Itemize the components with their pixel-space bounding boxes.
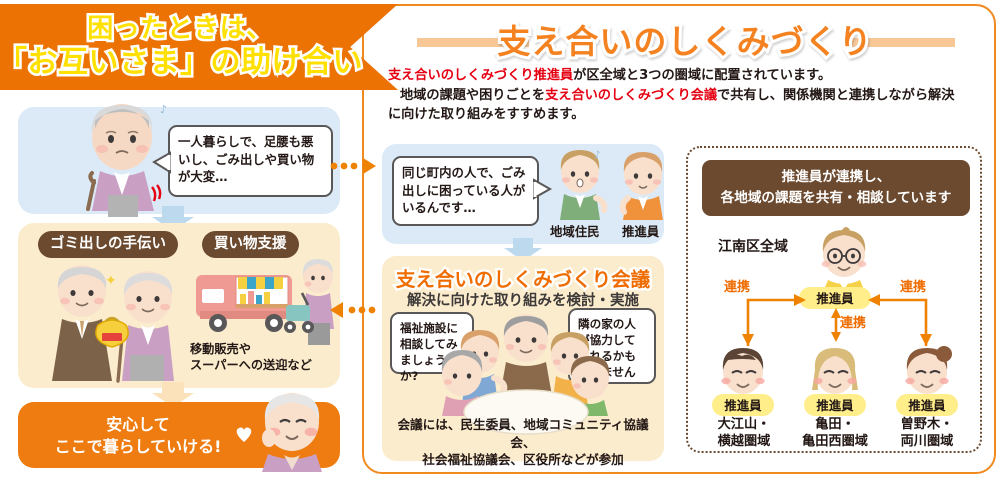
network-banner-text: 推進員が連携し、 各地域の課題を共有・相談しています [721,167,952,209]
page-title: 支え合いのしくみづくり [497,15,872,63]
svg-text:♪: ♪ [594,150,600,161]
gomi-help-illustration: ✦ [42,263,190,383]
link-label-center: 連携 [840,312,866,331]
dotted-arrow-right [330,156,378,176]
area-promoter-1-illustration [714,344,772,400]
conference-footer: 会議には、民生委員、地域コミュニティ協議会、 社会福祉協議会、区役所などが参加 [388,416,658,469]
meeting-group-illustration [428,312,624,416]
link-label-right: 連携 [900,276,926,295]
left-banner-line2: 「お互いさま」の助け合い [0,45,363,81]
network-banner: 推進員が連携し、 各地域の課題を共有・相談しています [702,160,970,216]
area-pill-3: 推進員 [896,394,958,416]
left-resident-bubble: 一人暮らしで、足腰も悪いし、ごみ出しや買い物が大変… [168,125,333,197]
support-note: 移動販売や スーパーへの送迎など [190,341,312,373]
middle-resident-bubble-text: 同じ町内の人で、ごみ出しに困っている人がいるんです… [402,165,525,215]
middle-resident-bubble: 同じ町内の人で、ごみ出しに困っている人がいるんです… [392,156,539,226]
happy-elderly-woman-illustration [246,380,338,472]
left-support-box: ゴミ出しの手伝い 買い物支援 [18,223,340,388]
area-pill-1: 推進員 [712,394,774,416]
outcome-text: 安心して ここで暮らしていける! [38,414,238,458]
whole-ward-label: 江南区全域 [718,236,788,256]
promoter-illustration [614,148,672,220]
bubble-tail-left [152,151,172,175]
conference-title: 支え合いのしくみづくり会議 [382,263,664,292]
middle-consult-box: 同じ町内の人で、ごみ出しに困っている人がいるんです… ♪ [382,144,664,244]
area-promoter-3-illustration [898,344,956,400]
shopping-support-illustration [190,253,338,353]
desc-line-3: に向けた取り組みをすすめます。 [388,107,585,122]
left-problem-box: ♪ 一人暮らしで、足腰も悪いし、ごみ出しや買い物が大変… [18,107,340,214]
svg-text:✦: ✦ [105,273,117,289]
desc-part-2b: で共有し、関係機関と連携しながら解決 [717,88,954,103]
conference-subtitle: 解決に向けた取り組みを検討・実施 [382,289,664,310]
label-promoter: 推進員 [622,222,659,240]
main-title-wrap: 支え合いのしくみづくり [395,16,975,62]
desc-part-2a: 地域の課題や困りごとを [400,88,545,103]
header-description: 支え合いのしくみづくり推進員が区全域と3つの圏域に配置されています。 地域の課題… [388,66,988,125]
left-outcome-box: 安心して ここで暮らしていける! [18,402,340,468]
resident-illustration: ♪ [550,146,610,220]
left-banner-line1: 困ったときは、 [87,13,273,45]
area-promoter-2-illustration [806,344,864,400]
desc-highlight-2: 支え合いのしくみづくり会議 [545,88,717,103]
desc-highlight-1: 支え合いのしくみづくり推進員 [388,68,573,83]
area-name-3: 曽野木・ 両川圏域 [881,416,973,450]
label-resident: 地域住民 [550,222,600,240]
link-label-left: 連携 [724,276,750,295]
dotted-arrow-left [328,300,378,320]
area-pill-2: 推進員 [804,394,866,416]
conference-box: 支え合いのしくみづくり会議 解決に向けた取り組みを検討・実施 福祉施設に相談して… [382,256,664,461]
area-name-2: 亀田・ 亀田西圏域 [789,416,881,450]
support-tag-1: ゴミ出しの手伝い [38,231,178,258]
desc-rest-1: が区全域と3つの圏域に配置されています。 [573,68,831,83]
svg-text:♪: ♪ [160,103,167,116]
network-panel: 推進員が連携し、 各地域の課題を共有・相談しています 江南区全域 推進員 [686,146,982,453]
infographic-root: 困ったときは、 「お互いさま」の助け合い 支え合いのしくみづくり 支え合いのしく… [0,0,1001,479]
left-resident-bubble-text: 一人暮らしで、足腰も悪いし、ごみ出しや買い物が大変… [178,134,314,184]
area-name-1: 大江山・ 横越圏域 [698,416,790,450]
left-banner: 困ったときは、 「お互いさま」の助け合い [0,4,398,90]
